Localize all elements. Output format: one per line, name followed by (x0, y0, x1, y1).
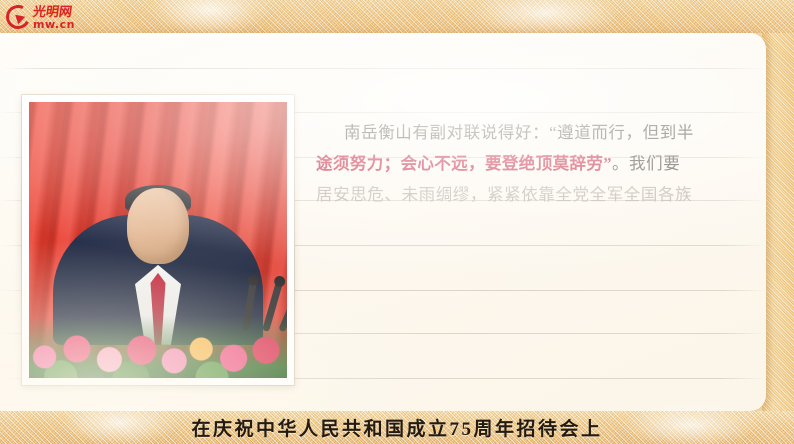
gmw-logo[interactable]: 光明网 mw.cn (6, 2, 114, 32)
quote-segment-normal: 。我们要 (612, 154, 680, 173)
logo-name-cn: 光明网 (32, 5, 76, 18)
quote-text-block: 南岳衡山有副对联说得好：“遵道而行，但到半 途须努力；会心不远，要登绝顶莫辞劳”… (316, 117, 736, 210)
quote-line-3: 居安思危、未雨绸缪，紧紧依靠全党全军全国各族 (316, 179, 736, 210)
band-glow (150, 0, 270, 34)
band-glow (470, 0, 620, 36)
quote-line-2: 途须努力；会心不远，要登绝顶莫辞劳”。我们要 (316, 148, 736, 179)
rule-line (0, 68, 766, 69)
top-gold-band (0, 0, 794, 33)
quote-segment-highlight: 途须努力；会心不远，要登绝顶莫辞劳” (316, 154, 612, 173)
podium-flowers (29, 316, 287, 378)
logo-wordmark: 光明网 mw.cn (33, 5, 75, 30)
right-gold-gutter (762, 33, 794, 411)
speaker-photo (29, 102, 287, 378)
caption-text: 在庆祝中华人民共和国成立75周年招待会上 (191, 414, 602, 441)
quote-line-1: 南岳衡山有副对联说得好：“遵道而行，但到半 (316, 117, 736, 148)
bottom-caption: 在庆祝中华人民共和国成立75周年招待会上 (0, 411, 794, 444)
gmw-logo-icon (3, 2, 33, 32)
logo-name-en: mw.cn (33, 19, 75, 30)
quote-segment-normal: 南岳衡山有副对联说得好：“遵道而行，但到半 (344, 123, 694, 142)
content-card: 南岳衡山有副对联说得好：“遵道而行，但到半 途须努力；会心不远，要登绝顶莫辞劳”… (0, 33, 766, 411)
quote-segment-faded: 居安思危、未雨绸缪，紧紧依靠全党全军全国各族 (316, 185, 692, 204)
photo-frame[interactable] (22, 95, 294, 385)
speaker-head (127, 188, 189, 264)
slide-canvas: 光明网 mw.cn 南岳衡山有副对联说得好：“遵 (0, 0, 794, 444)
